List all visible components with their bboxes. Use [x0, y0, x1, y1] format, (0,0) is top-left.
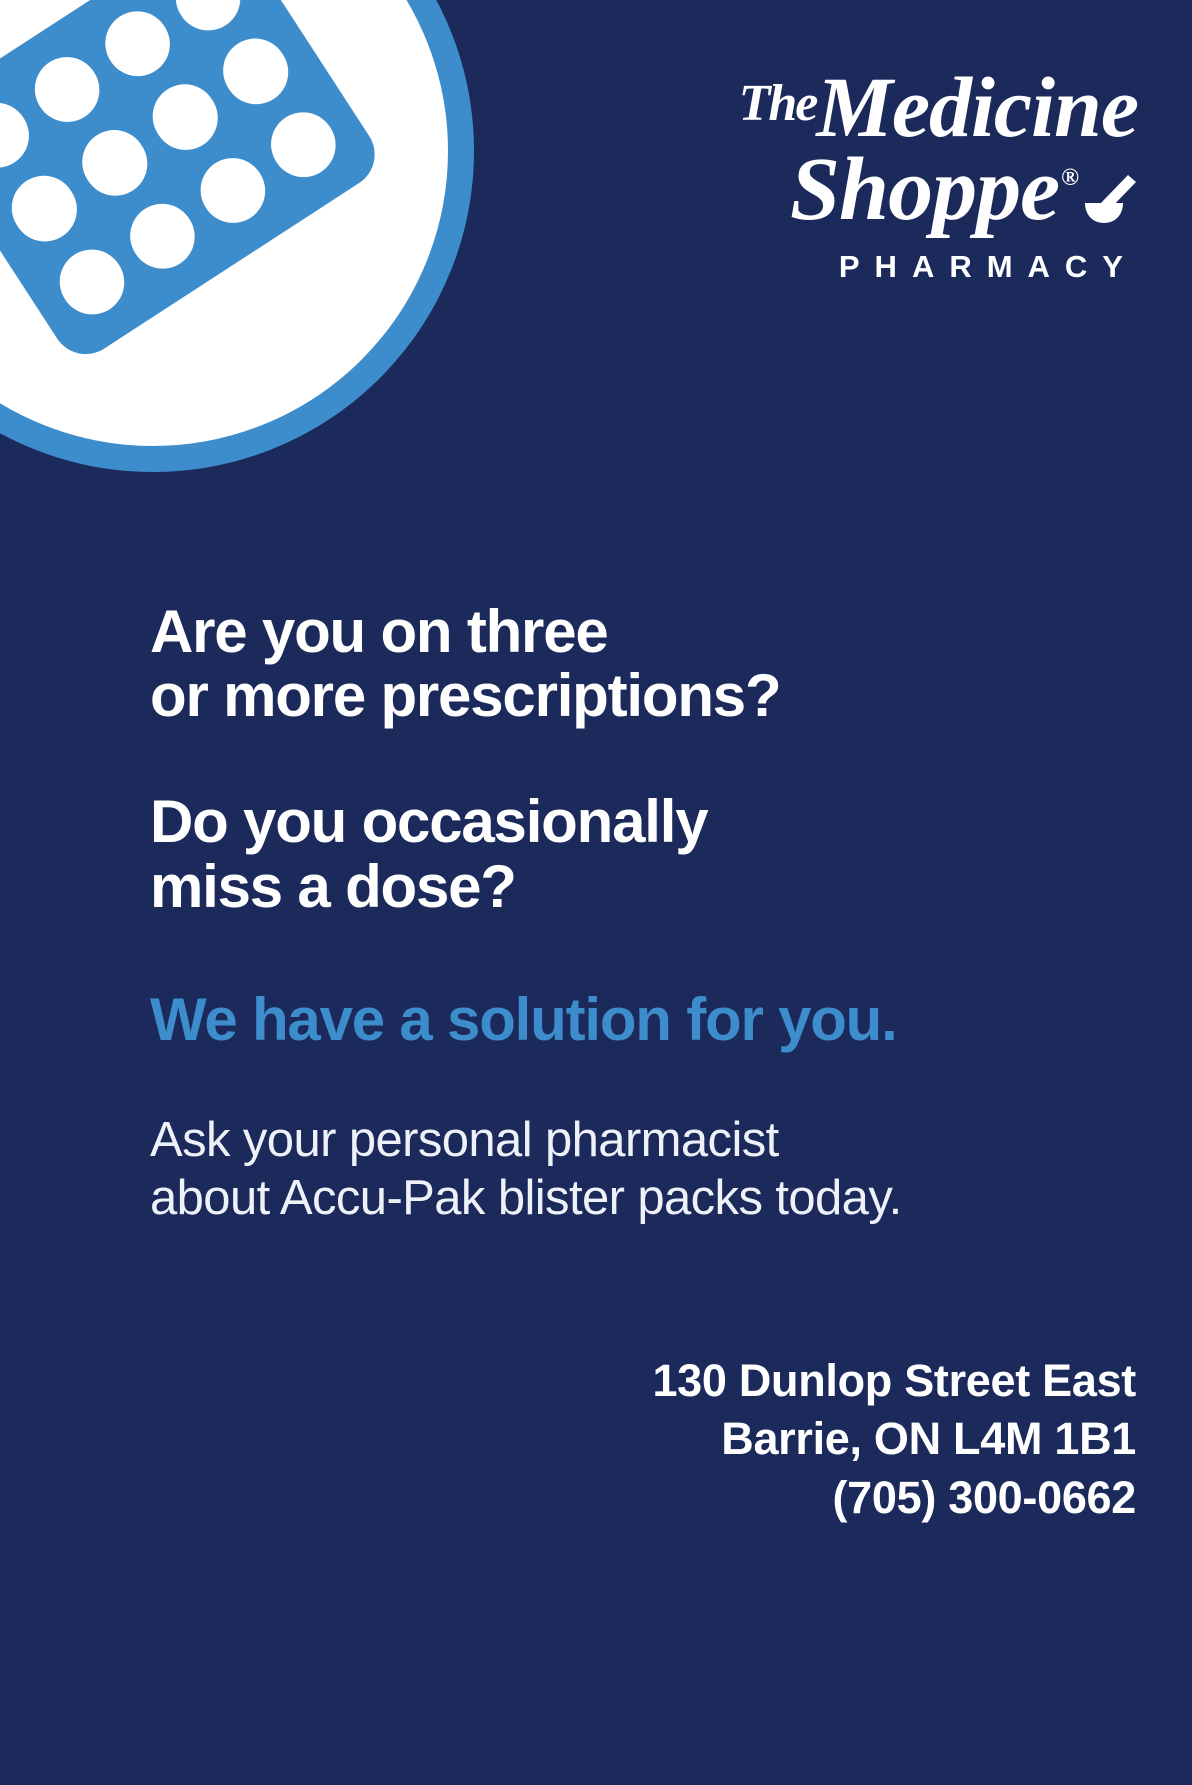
logo-tagline: PHARMACY: [708, 249, 1138, 285]
logo-line-medicine: TheMedicine: [708, 70, 1138, 146]
brand-logo: TheMedicine Shoppe® PHARMACY: [708, 70, 1138, 285]
mortar-and-pestle-icon: [1082, 156, 1138, 235]
copy-block: Are you on three or more prescriptions? …: [150, 600, 1090, 1227]
headline-miss-dose: Do you occasionally miss a dose?: [150, 790, 1090, 918]
logo-word-shoppe: Shoppe: [790, 140, 1059, 239]
solution-statement: We have a solution for you.: [150, 985, 1090, 1054]
body-copy: Ask your personal pharmacist about Accu-…: [150, 1112, 1090, 1228]
address-block: 130 Dunlop Street East Barrie, ON L4M 1B…: [652, 1352, 1136, 1528]
registered-trademark-icon: ®: [1061, 165, 1078, 191]
address-city-province-postal: Barrie, ON L4M 1B1: [652, 1410, 1136, 1469]
address-street: 130 Dunlop Street East: [652, 1352, 1136, 1411]
logo-wordmark: TheMedicine Shoppe®: [708, 70, 1138, 235]
headline-prescriptions: Are you on three or more prescriptions?: [150, 600, 1090, 728]
pharmacy-poster: TheMedicine Shoppe® PHARMACY Are you on …: [0, 0, 1192, 1785]
logo-line-shoppe: Shoppe®: [708, 150, 1138, 235]
address-phone[interactable]: (705) 300-0662: [652, 1469, 1136, 1528]
logo-word-the: The: [739, 75, 817, 132]
badge-circle: [0, 0, 474, 472]
